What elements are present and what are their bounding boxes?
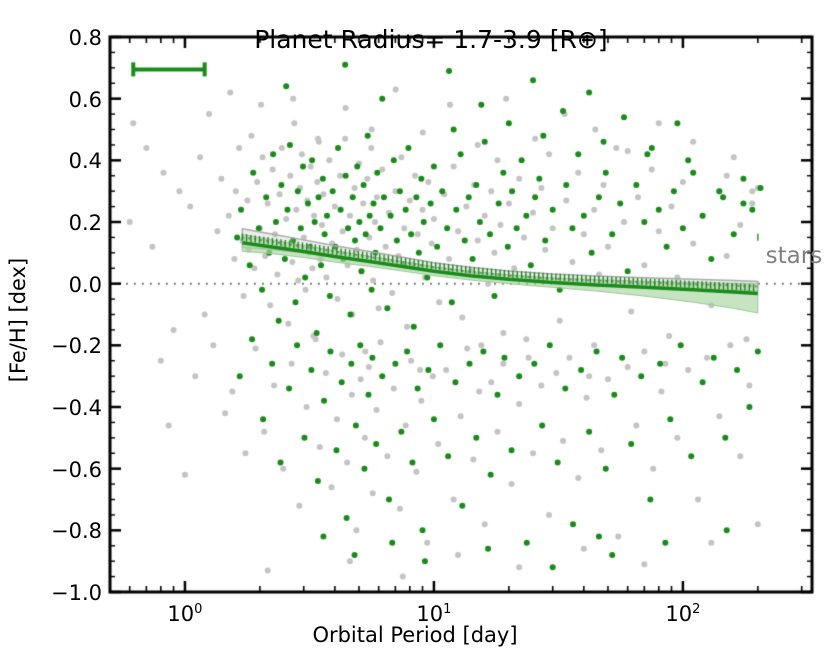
y-tick-label: 0.0	[69, 273, 102, 297]
chart-title-prefix: Planet Radius= 1.7-3.9 [R	[254, 25, 577, 54]
x-axis-label: Orbital Period [day]	[0, 625, 830, 646]
chart-title: Planet Radius= 1.7-3.9 [R⊕]	[0, 2, 830, 77]
earth-symbol-icon: ⊕	[577, 27, 598, 52]
y-tick-label: −0.4	[51, 396, 102, 420]
chart-title-suffix: ]	[598, 25, 608, 54]
scatter-plot-canvas	[0, 0, 830, 670]
y-tick-label: 0.4	[69, 149, 102, 173]
y-axis-label: [Fe/H] [dex]	[8, 40, 29, 600]
y-tick-label: −1.0	[51, 581, 102, 605]
y-tick-label: −0.8	[51, 519, 102, 543]
x-tick-label: 101	[394, 602, 474, 626]
x-tick-label: 100	[145, 602, 225, 626]
y-tick-label: −0.2	[51, 334, 102, 358]
stars-annotation: stars	[766, 243, 823, 269]
y-tick-label: −0.6	[51, 458, 102, 482]
y-tick-label: 0.6	[69, 88, 102, 112]
y-tick-label: 0.2	[69, 211, 102, 235]
figure-canvas-container: Planet Radius= 1.7-3.9 [R⊕] Orbital Peri…	[0, 0, 830, 670]
x-tick-label: 102	[643, 602, 723, 626]
y-tick-label: 0.8	[69, 26, 102, 50]
